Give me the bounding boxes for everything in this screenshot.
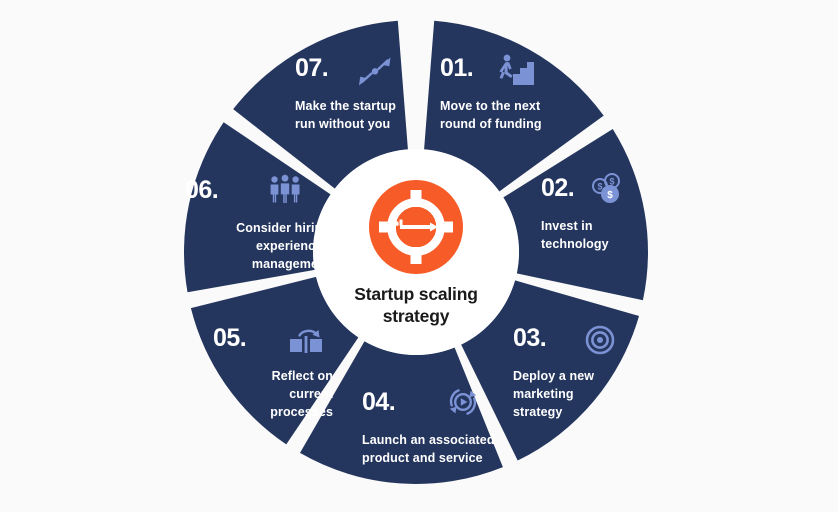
hub-title-line1: Startup scaling [326,284,506,306]
svg-text:$: $ [607,190,613,201]
svg-text:$: $ [609,177,614,187]
expand-arrows-dot-icon [356,55,394,89]
hub-icon-group [369,180,463,274]
three-people-group-icon [268,174,302,204]
hub-title-line2: strategy [326,306,506,328]
bullseye-target-icon [585,325,615,355]
refresh-play-icon [446,385,480,419]
hub-title: Startup scaling strategy [326,284,506,328]
svg-text:$: $ [597,182,602,192]
infographic-canvas: Startup scaling strategy 01. Move to the… [0,0,838,512]
person-climbing-stairs-icon [494,52,534,88]
donut-wheel [0,0,838,512]
dollar-coins-icon: $ $ $ [590,172,624,206]
mirror-reflect-arrow-icon [288,328,324,356]
